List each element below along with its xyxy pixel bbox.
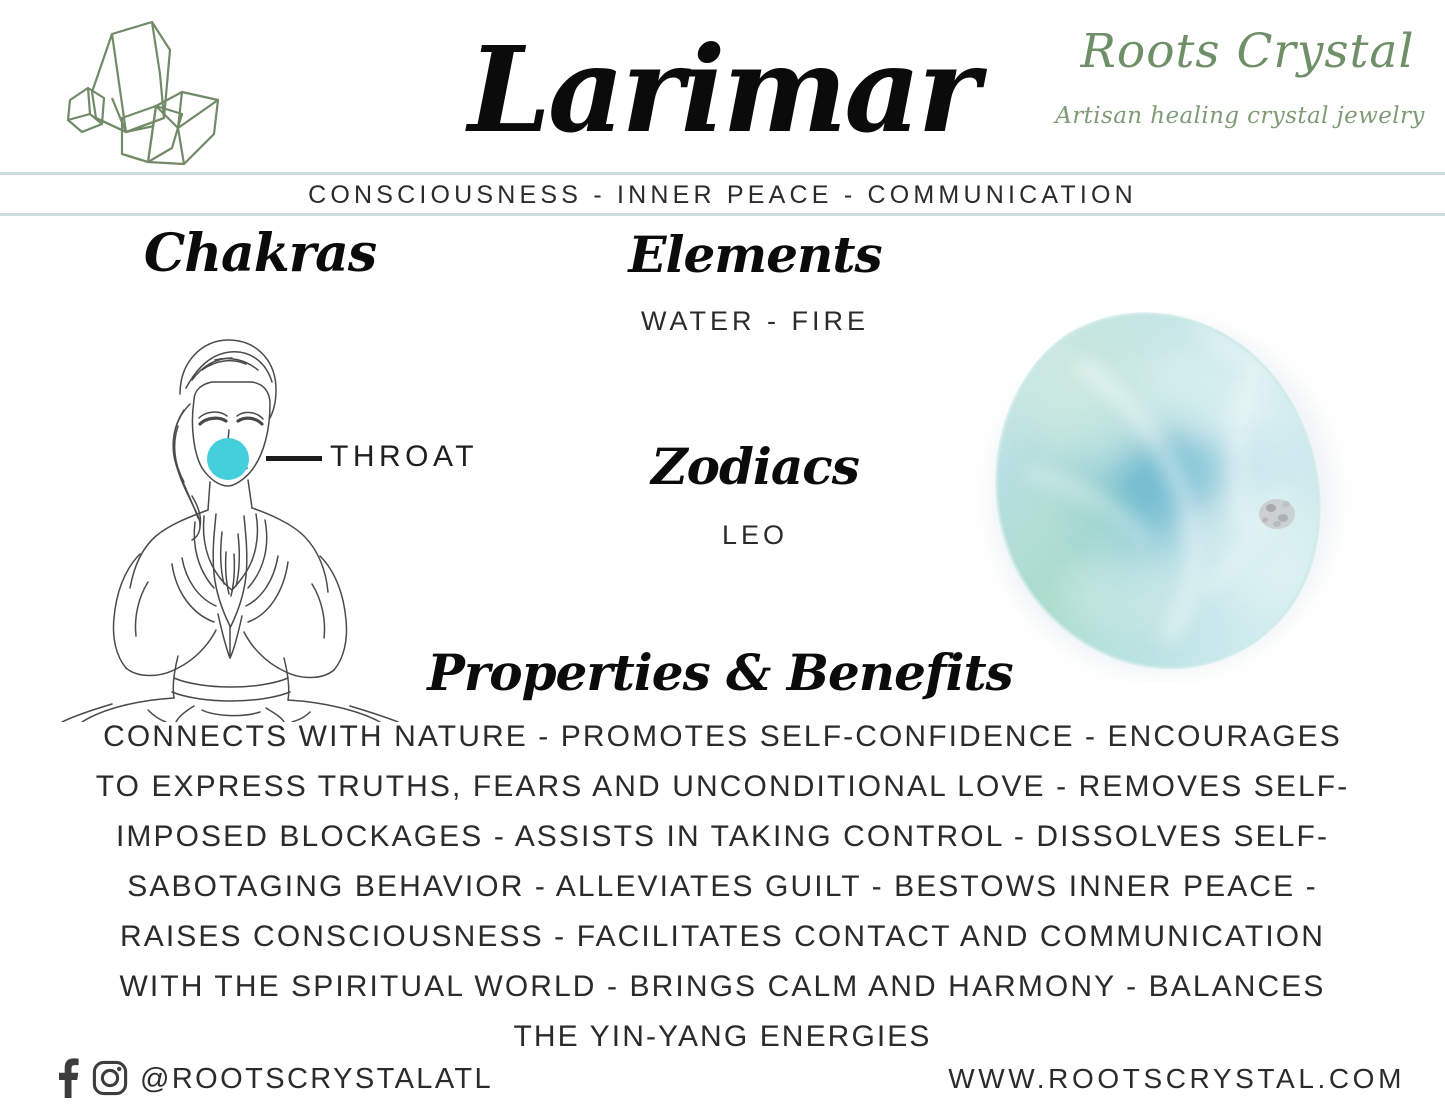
elements-value: WATER - FIRE: [555, 306, 955, 337]
properties-line: RAISES CONSCIOUSNESS - FACILITATES CONTA…: [45, 912, 1400, 962]
divider-bottom: [0, 213, 1445, 216]
chakra-leader-line: [266, 456, 322, 461]
zodiacs-heading: Zodiacs: [555, 442, 955, 492]
zodiacs-value: LEO: [555, 520, 955, 551]
divider-top: [0, 172, 1445, 175]
meditating-woman-icon: [52, 326, 402, 722]
crystal-info-card: Larimar Roots Crystal Artisan healing cr…: [0, 0, 1445, 1117]
elements-heading: Elements: [555, 230, 955, 280]
brand-tagline: Artisan healing crystal jewelry: [1040, 104, 1440, 129]
properties-line: IMPOSED BLOCKAGES - ASSISTS IN TAKING CO…: [45, 812, 1400, 862]
throat-chakra-dot: [207, 438, 249, 480]
chakras-heading: Chakras: [60, 228, 460, 280]
facebook-icon[interactable]: [54, 1058, 80, 1098]
properties-heading: Properties & Benefits: [380, 648, 1060, 698]
brand-name: Roots Crystal: [1055, 28, 1440, 75]
properties-line: SABOTAGING BEHAVIOR - ALLEVIATES GUILT -…: [45, 862, 1400, 912]
website-url[interactable]: WWW.ROOTSCRYSTAL.COM: [948, 1063, 1405, 1095]
properties-line: CONNECTS WITH NATURE - PROMOTES SELF-CON…: [45, 712, 1400, 762]
chakra-label-throat: THROAT: [330, 440, 478, 474]
keywords-tagline: CONSCIOUSNESS - INNER PEACE - COMMUNICAT…: [0, 178, 1445, 213]
properties-text: CONNECTS WITH NATURE - PROMOTES SELF-CON…: [45, 712, 1400, 1062]
instagram-handle[interactable]: @ROOTSCRYSTALATL: [140, 1063, 493, 1096]
larimar-tumbled-stone-image: [955, 292, 1375, 682]
properties-line: WITH THE SPIRITUAL WORLD - BRINGS CALM A…: [45, 962, 1400, 1012]
instagram-icon[interactable]: [92, 1060, 128, 1096]
properties-line: TO EXPRESS TRUTHS, FEARS AND UNCONDITION…: [45, 762, 1400, 812]
header: Larimar Roots Crystal Artisan healing cr…: [0, 0, 1445, 172]
